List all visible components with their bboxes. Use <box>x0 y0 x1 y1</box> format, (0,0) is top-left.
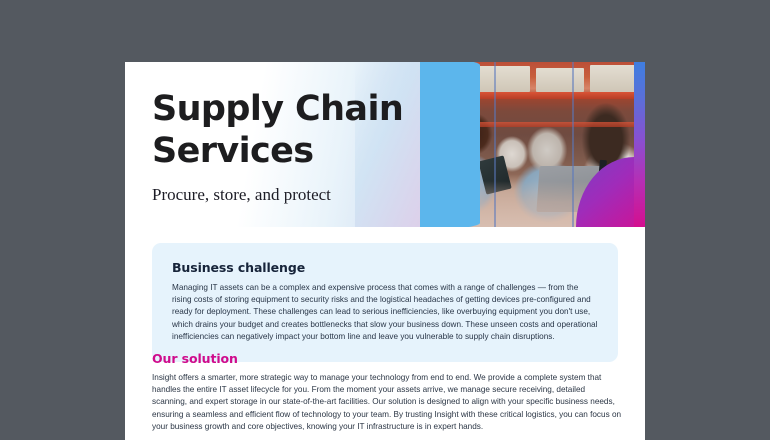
screenshot-viewport: Supply Chain Services Procure, store, an… <box>0 0 770 440</box>
photo-seam-divider <box>572 62 574 227</box>
hero-photo <box>420 62 645 227</box>
document-page: Supply Chain Services Procure, store, an… <box>125 62 645 440</box>
business-challenge-callout: Business challenge Managing IT assets ca… <box>152 243 618 362</box>
hero-gradient-rail <box>634 62 645 227</box>
pallet-box-icon <box>478 66 530 92</box>
our-solution-heading: Our solution <box>152 351 622 366</box>
business-challenge-body: Managing IT assets can be a complex and … <box>172 282 598 343</box>
our-solution-section: Our solution Insight offers a smarter, m… <box>152 351 622 433</box>
photo-seam-divider <box>494 62 496 227</box>
our-solution-body: Insight offers a smarter, more strategic… <box>152 372 622 433</box>
pallet-box-icon <box>536 68 584 92</box>
page-title: Supply Chain Services <box>152 88 422 172</box>
hero-text-block: Supply Chain Services Procure, store, an… <box>152 88 422 206</box>
page-subtitle: Procure, store, and protect <box>152 184 422 206</box>
hero-banner: Supply Chain Services Procure, store, an… <box>125 62 645 227</box>
business-challenge-heading: Business challenge <box>172 260 598 275</box>
photo-blue-arc <box>420 62 480 227</box>
